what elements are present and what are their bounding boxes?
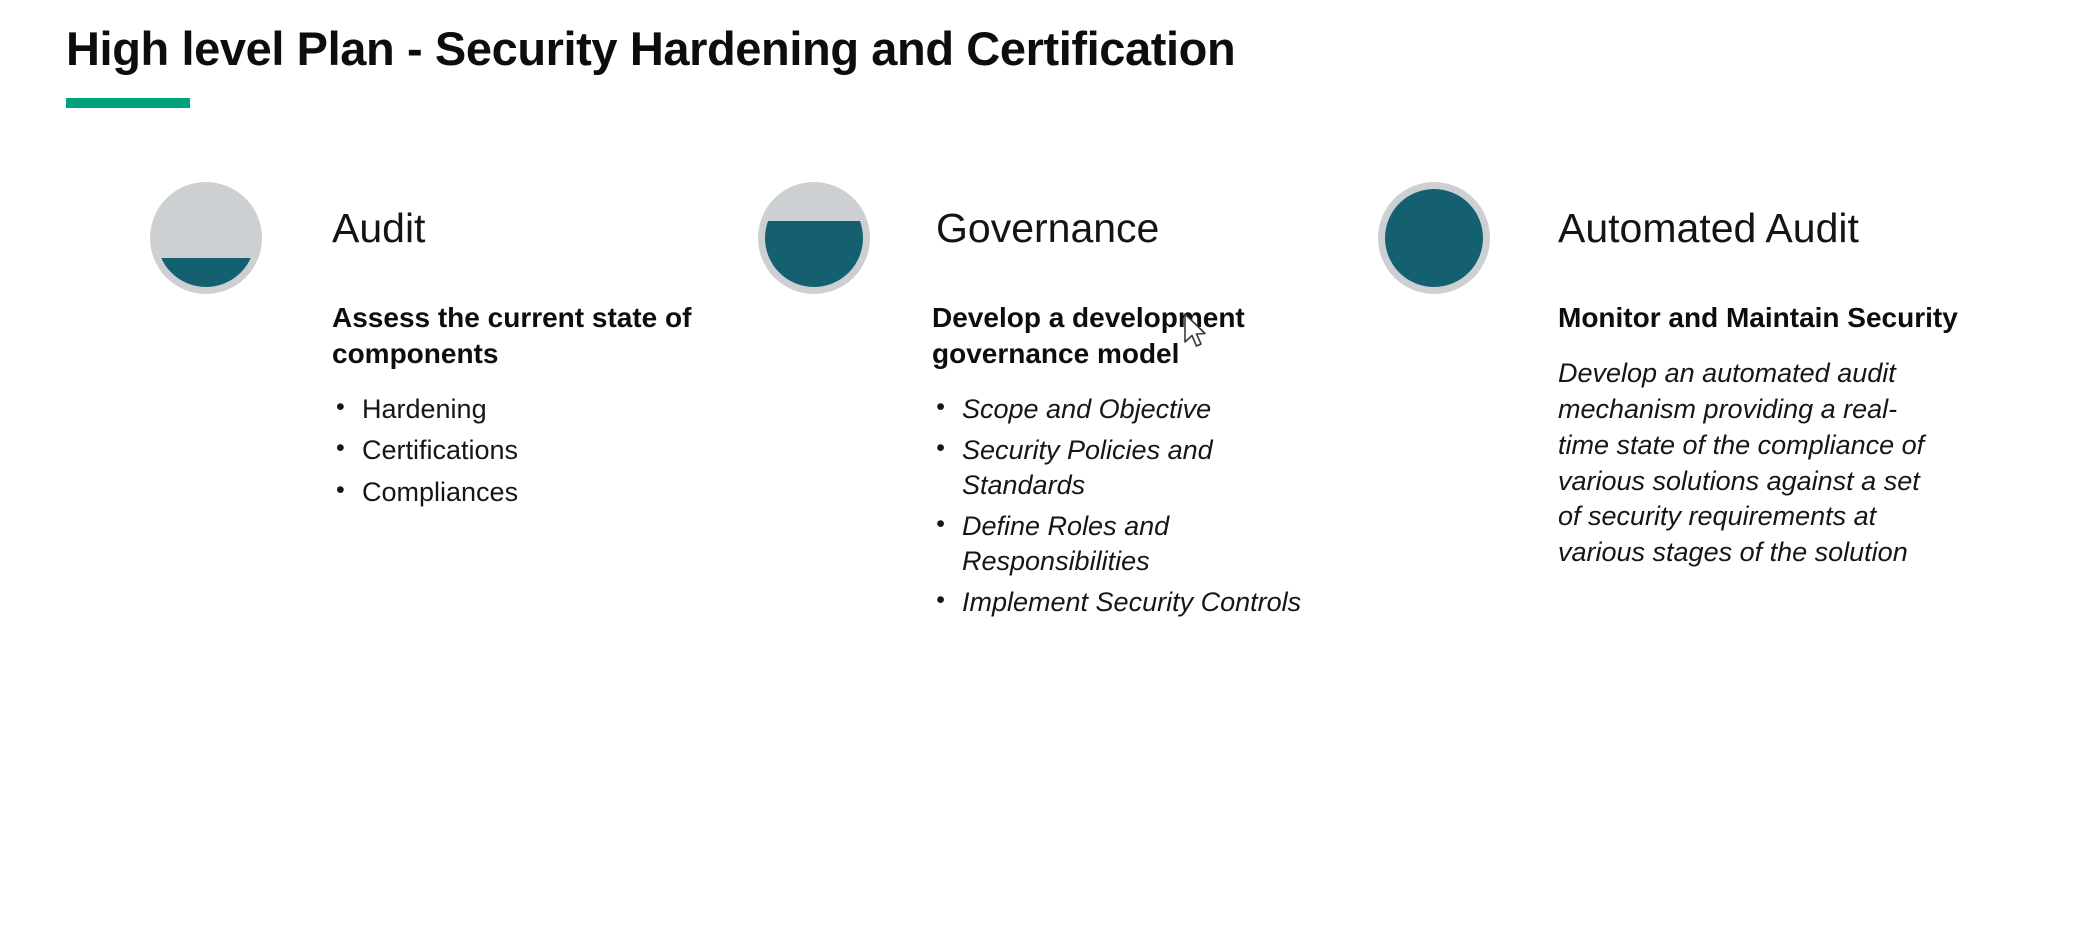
list-item: Define Roles and Responsibilities — [932, 509, 1332, 578]
column-paragraph-automated-audit: Develop an automated audit mechanism pro… — [1558, 356, 1938, 571]
gauge-label-automated-audit: Automated Audit — [1558, 208, 1859, 249]
gauge-label-audit: Audit — [332, 208, 425, 249]
list-item: Scope and Objective — [932, 392, 1332, 427]
gauge-label-governance: Governance — [936, 208, 1159, 249]
gauge-circle-audit — [150, 182, 262, 294]
gauge-row: Automated Audit — [1378, 180, 1998, 300]
list-item: Hardening — [332, 392, 732, 427]
column-governance: Governance Develop a development governa… — [758, 180, 1378, 300]
column-heading-automated-audit: Monitor and Maintain Security — [1558, 300, 1958, 336]
list-item: Compliances — [332, 475, 732, 510]
column-bullets-audit: HardeningCertificationsCompliances — [332, 392, 732, 510]
title-block: High level Plan - Security Hardening and… — [66, 22, 1235, 108]
gauge-inner — [157, 189, 255, 287]
list-item: Security Policies and Standards — [932, 433, 1332, 502]
column-heading-audit: Assess the current state of components — [332, 300, 732, 372]
gauge-fill — [765, 221, 863, 287]
gauge-fill — [1385, 189, 1483, 287]
gauge-circle-governance — [758, 182, 870, 294]
columns-container: Audit Assess the current state of compon… — [0, 180, 2082, 820]
column-heading-governance: Develop a development governance model — [932, 300, 1332, 372]
gauge-row: Audit — [150, 180, 770, 300]
page-title: High level Plan - Security Hardening and… — [66, 22, 1235, 76]
slide-canvas: High level Plan - Security Hardening and… — [0, 0, 2082, 930]
column-bullets-governance: Scope and ObjectiveSecurity Policies and… — [932, 392, 1332, 620]
list-item: Certifications — [332, 433, 732, 468]
gauge-inner — [1385, 189, 1483, 287]
column-body-automated-audit: Monitor and Maintain Security Develop an… — [1558, 300, 1958, 571]
gauge-circle-automated-audit — [1378, 182, 1490, 294]
column-body-governance: Develop a development governance model S… — [932, 300, 1332, 627]
column-audit: Audit Assess the current state of compon… — [150, 180, 770, 300]
column-automated-audit: Automated Audit Monitor and Maintain Sec… — [1378, 180, 1998, 300]
gauge-inner — [765, 189, 863, 287]
list-item: Implement Security Controls — [932, 585, 1332, 620]
gauge-row: Governance — [758, 180, 1378, 300]
gauge-fill — [157, 258, 255, 287]
column-body-audit: Assess the current state of components H… — [332, 300, 732, 516]
title-accent-bar — [66, 98, 190, 108]
